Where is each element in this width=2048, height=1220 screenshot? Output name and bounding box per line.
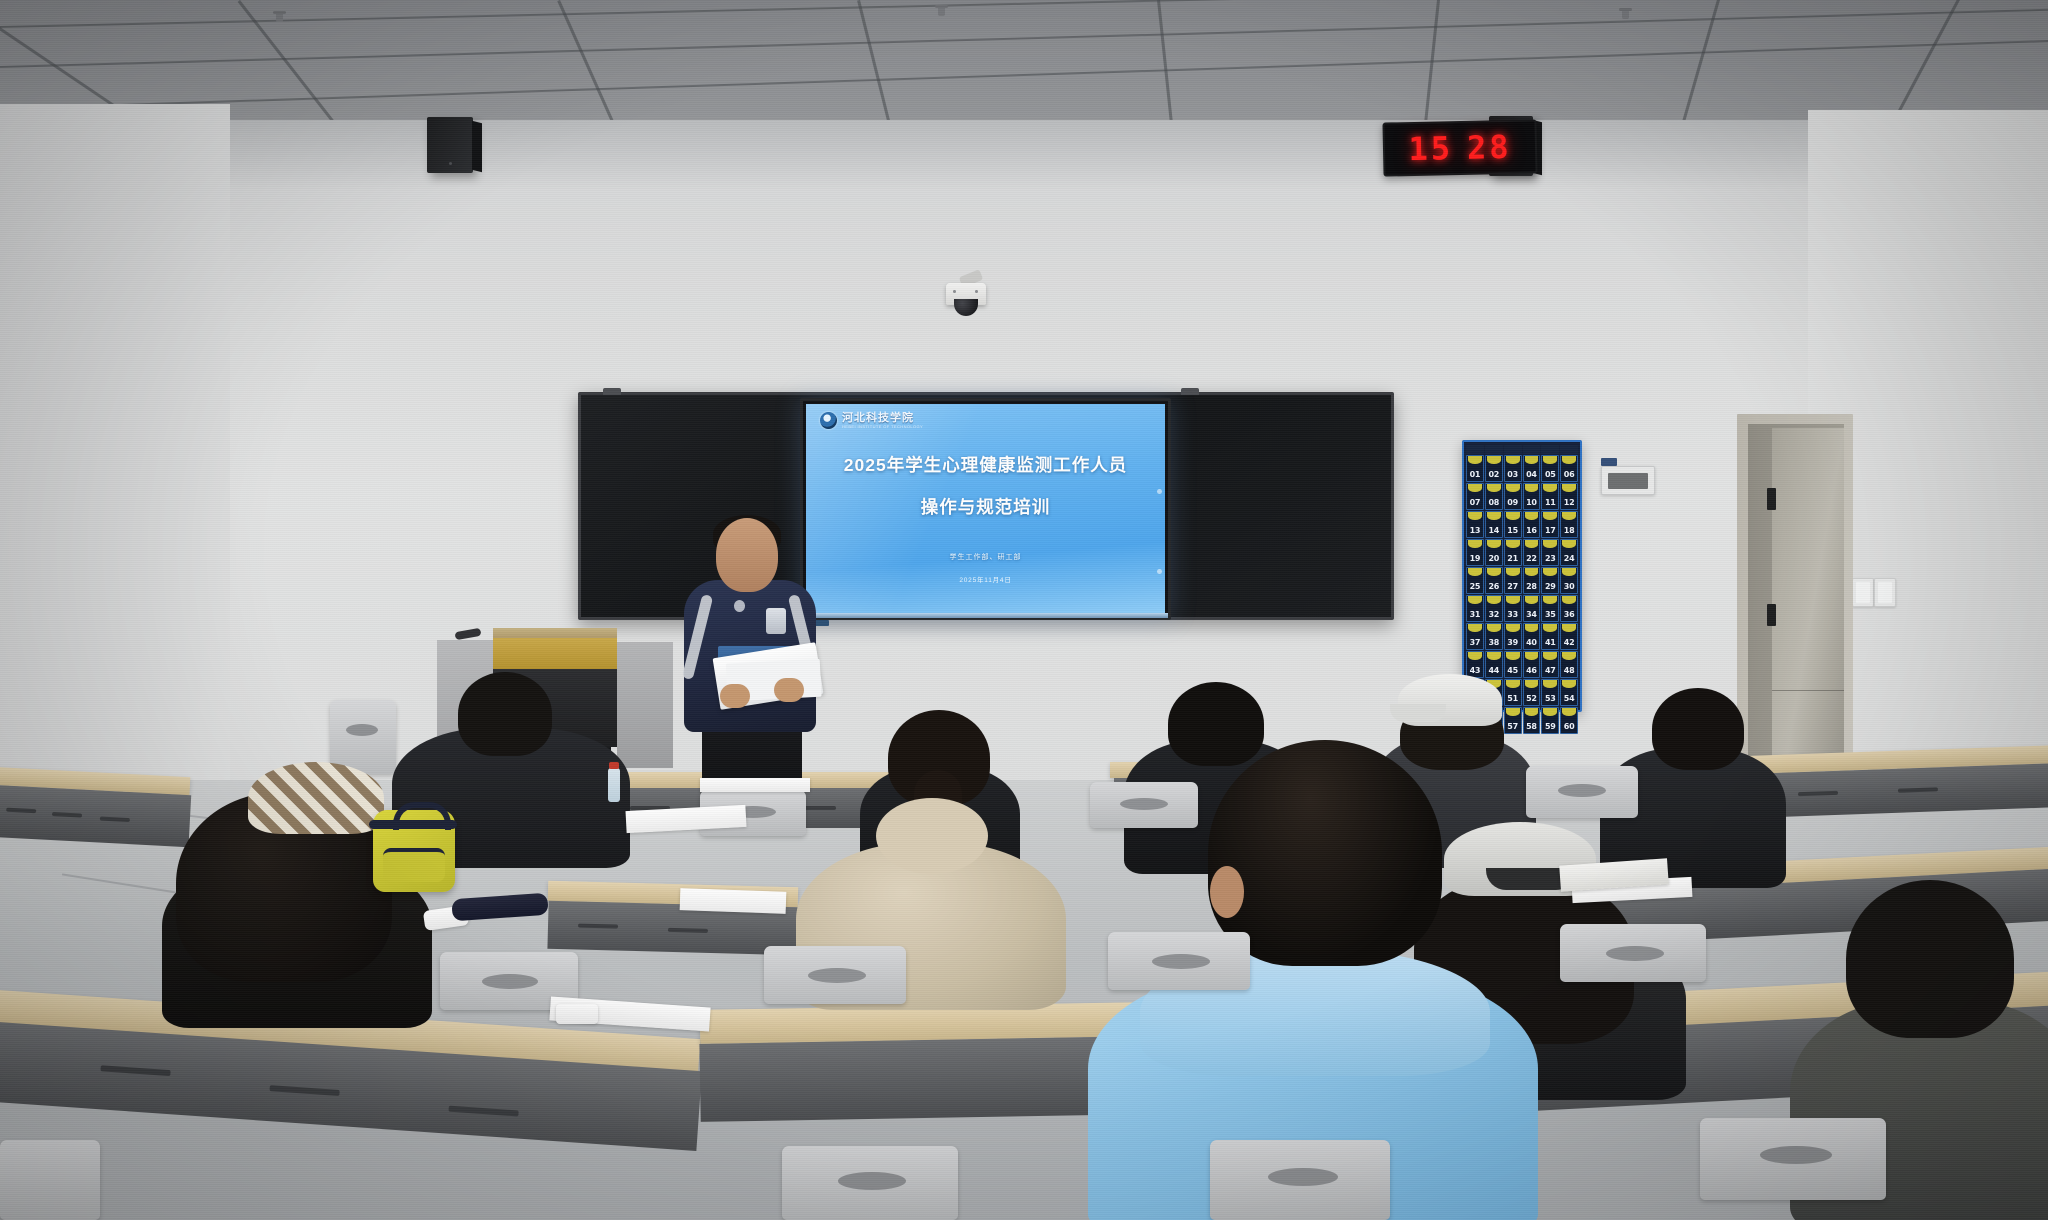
pocket-37[interactable]: 37 (1466, 623, 1484, 650)
yellow-backpack (373, 810, 455, 892)
pocket-flap (1562, 512, 1576, 520)
dome-camera (946, 283, 986, 313)
pocket-36[interactable]: 36 (1560, 595, 1578, 622)
pocket-number: 10 (1526, 498, 1537, 507)
pocket-flap (1525, 512, 1539, 520)
pocket-number: 16 (1526, 526, 1537, 535)
pocket-39[interactable]: 39 (1504, 623, 1522, 650)
pocket-20[interactable]: 20 (1485, 539, 1503, 566)
pocket-number: 31 (1470, 610, 1481, 619)
ceiling (0, 0, 2048, 128)
pocket-16[interactable]: 16 (1523, 511, 1541, 538)
light-switch[interactable] (1874, 578, 1896, 607)
digital-wall-clock: 15 28 (1382, 119, 1537, 176)
pocket-number: 13 (1470, 526, 1481, 535)
logo-emblem-icon (820, 412, 837, 429)
screen-indicator-icon (1157, 569, 1162, 574)
pocket-number: 17 (1545, 526, 1556, 535)
pocket-21[interactable]: 21 (1504, 539, 1522, 566)
pocket-45[interactable]: 45 (1504, 651, 1522, 678)
pocket-flap (1543, 484, 1557, 492)
pocket-number: 47 (1545, 666, 1556, 675)
wall-top-shading (0, 120, 2048, 190)
logo-name-en: HEBEI INSTITUTE OF TECHNOLOGY (842, 425, 923, 429)
pocket-number: 36 (1564, 610, 1575, 619)
pocket-06[interactable]: 06 (1560, 455, 1578, 482)
pocket-flap (1525, 624, 1539, 632)
pocket-42[interactable]: 42 (1560, 623, 1578, 650)
pocket-flap (1468, 596, 1482, 604)
pocket-43[interactable]: 43 (1466, 651, 1484, 678)
pocket-04[interactable]: 04 (1523, 455, 1541, 482)
pocket-number: 42 (1564, 638, 1575, 647)
ceiling-speaker-left (427, 117, 473, 173)
pocket-flap (1468, 624, 1482, 632)
pocket-number: 02 (1488, 470, 1499, 479)
pocket-number: 15 (1507, 526, 1518, 535)
pocket-flap (1506, 568, 1520, 576)
pocket-number: 01 (1470, 470, 1481, 479)
slide-title: 2025年学生心理健康监测工作人员 操作与规范培训 (806, 452, 1165, 519)
chair (1090, 782, 1198, 828)
pocket-flap (1525, 596, 1539, 604)
pocket-02[interactable]: 02 (1485, 455, 1503, 482)
pocket-number: 19 (1470, 554, 1481, 563)
pocket-07[interactable]: 07 (1466, 483, 1484, 510)
pocket-number: 14 (1488, 526, 1499, 535)
pocket-number: 35 (1545, 610, 1556, 619)
screen-indicator-icon (1157, 489, 1162, 494)
pocket-flap (1562, 680, 1576, 688)
pocket-01[interactable]: 01 (1466, 455, 1484, 482)
sprinkler-head (276, 11, 283, 22)
wall-control-plaque (1601, 466, 1655, 495)
pocket-chart-header (1466, 445, 1578, 454)
pocket-flap (1543, 680, 1557, 688)
pocket-flap (1506, 512, 1520, 520)
pocket-flap (1543, 596, 1557, 604)
presentation-slide: 河北科技学院 HEBEI INSTITUTE OF TECHNOLOGY 202… (806, 404, 1165, 614)
pocket-number: 23 (1545, 554, 1556, 563)
light-switch[interactable] (1852, 578, 1874, 607)
pocket-number: 18 (1564, 526, 1575, 535)
pocket-flap (1506, 456, 1520, 464)
pocket-27[interactable]: 27 (1504, 567, 1522, 594)
pocket-number: 43 (1470, 666, 1481, 675)
pocket-25[interactable]: 25 (1466, 567, 1484, 594)
presenter-standing (680, 518, 820, 798)
classroom-photo: 15 28 河北科技学院 HEBEI INSTITUTE OF TECHNOLO… (0, 0, 2048, 1220)
pocket-number: 30 (1564, 582, 1575, 591)
sprinkler-head (938, 5, 945, 16)
pocket-05[interactable]: 05 (1541, 455, 1559, 482)
pocket-53[interactable]: 53 (1541, 679, 1559, 706)
pocket-08[interactable]: 08 (1485, 483, 1503, 510)
pocket-flap (1506, 596, 1520, 604)
pocket-number: 33 (1507, 610, 1518, 619)
pocket-number: 22 (1526, 554, 1537, 563)
pocket-34[interactable]: 34 (1523, 595, 1541, 622)
pocket-number: 38 (1488, 638, 1499, 647)
pocket-14[interactable]: 14 (1485, 511, 1503, 538)
pocket-flap (1543, 624, 1557, 632)
pocket-flap (1487, 512, 1501, 520)
pocket-flap (1468, 540, 1482, 548)
pocket-flap (1562, 596, 1576, 604)
pocket-number: 29 (1545, 582, 1556, 591)
pocket-flap (1506, 484, 1520, 492)
pocket-flap (1525, 568, 1539, 576)
pocket-flap (1525, 652, 1539, 660)
pocket-flap (1562, 540, 1576, 548)
pocket-number: 11 (1545, 498, 1556, 507)
pocket-flap (1487, 456, 1501, 464)
ear (1210, 866, 1244, 918)
pocket-32[interactable]: 32 (1485, 595, 1503, 622)
pocket-flap (1562, 568, 1576, 576)
pocket-flap (1525, 540, 1539, 548)
left-wall (0, 104, 230, 824)
pocket-23[interactable]: 23 (1541, 539, 1559, 566)
pocket-number: 21 (1507, 554, 1518, 563)
paper-on-desk (700, 778, 810, 792)
pocket-31[interactable]: 31 (1466, 595, 1484, 622)
pocket-17[interactable]: 17 (1541, 511, 1559, 538)
pocket-number: 08 (1488, 498, 1499, 507)
pocket-40[interactable]: 40 (1523, 623, 1541, 650)
pocket-30[interactable]: 30 (1560, 567, 1578, 594)
pocket-number: 34 (1526, 610, 1537, 619)
sprinkler-head (1622, 8, 1629, 19)
pocket-number: 27 (1507, 582, 1518, 591)
slide-title-line2: 操作与规范培训 (806, 494, 1165, 519)
slide-date: 2025年11月4日 (806, 574, 1165, 584)
screen-bezel-bottom (803, 613, 1168, 618)
microphone-icon (455, 628, 482, 640)
pocket-flap (1506, 652, 1520, 660)
pocket-number: 59 (1545, 722, 1556, 731)
pocket-24[interactable]: 24 (1560, 539, 1578, 566)
pocket-flap (1506, 540, 1520, 548)
paper-on-desk (680, 888, 787, 914)
chair (0, 1140, 100, 1220)
pocket-09[interactable]: 09 (1504, 483, 1522, 510)
pocket-flap (1562, 484, 1576, 492)
pocket-number: 09 (1507, 498, 1518, 507)
pocket-flap (1506, 624, 1520, 632)
pocket-26[interactable]: 26 (1485, 567, 1503, 594)
pocket-number: 37 (1470, 638, 1481, 647)
pocket-28[interactable]: 28 (1523, 567, 1541, 594)
pocket-19[interactable]: 19 (1466, 539, 1484, 566)
pocket-number: 48 (1564, 666, 1575, 675)
chair (1526, 766, 1638, 818)
pocket-flap (1487, 568, 1501, 576)
pocket-03[interactable]: 03 (1504, 455, 1522, 482)
pocket-number: 28 (1526, 582, 1537, 591)
clock-hours: 15 (1408, 129, 1453, 168)
pocket-18[interactable]: 18 (1560, 511, 1578, 538)
pocket-number: 04 (1526, 470, 1537, 479)
clock-minutes: 28 (1467, 128, 1512, 167)
pocket-number: 05 (1545, 470, 1556, 479)
pocket-number: 41 (1545, 638, 1556, 647)
pocket-flap (1562, 624, 1576, 632)
pocket-flap (1562, 456, 1576, 464)
pocket-flap (1468, 456, 1482, 464)
pocket-41[interactable]: 41 (1541, 623, 1559, 650)
pocket-number: 03 (1507, 470, 1518, 479)
chair (1108, 932, 1250, 990)
pocket-number: 25 (1470, 582, 1481, 591)
display-screen[interactable]: 河北科技学院 HEBEI INSTITUTE OF TECHNOLOGY 202… (800, 398, 1171, 620)
pocket-35[interactable]: 35 (1541, 595, 1559, 622)
pocket-flap (1525, 456, 1539, 464)
pocket-flap (1468, 652, 1482, 660)
pocket-number: 20 (1488, 554, 1499, 563)
pocket-number: 45 (1507, 666, 1518, 675)
pocket-flap (1487, 624, 1501, 632)
pocket-29[interactable]: 29 (1541, 567, 1559, 594)
pocket-flap (1487, 596, 1501, 604)
pocket-number: 46 (1526, 666, 1537, 675)
logo-name-cn: 河北科技学院 (842, 413, 923, 424)
pocket-flap (1487, 484, 1501, 492)
pocket-46[interactable]: 46 (1523, 651, 1541, 678)
pocket-10[interactable]: 10 (1523, 483, 1541, 510)
pocket-flap (1543, 512, 1557, 520)
pocket-number: 24 (1564, 554, 1575, 563)
pocket-flap (1487, 540, 1501, 548)
pocket-flap (1487, 652, 1501, 660)
institution-logo: 河北科技学院 HEBEI INSTITUTE OF TECHNOLOGY (820, 412, 923, 429)
pocket-54[interactable]: 54 (1560, 679, 1578, 706)
baseball-cap (1398, 674, 1502, 726)
pocket-13[interactable]: 13 (1466, 511, 1484, 538)
checkered-hat (248, 762, 384, 834)
chair (782, 1146, 958, 1220)
pocket-44[interactable]: 44 (1485, 651, 1503, 678)
pocket-flap (1562, 708, 1576, 716)
pocket-number: 07 (1470, 498, 1481, 507)
pocket-33[interactable]: 33 (1504, 595, 1522, 622)
chair (1700, 1118, 1886, 1200)
pocket-47[interactable]: 47 (1541, 651, 1559, 678)
plaque-tab (1601, 458, 1617, 466)
pocket-number: 54 (1564, 694, 1575, 703)
pocket-flap (1543, 540, 1557, 548)
chair (764, 946, 906, 1004)
pocket-60[interactable]: 60 (1560, 707, 1578, 734)
pocket-flap (1468, 484, 1482, 492)
pocket-number: 39 (1507, 638, 1518, 647)
pocket-number: 12 (1564, 498, 1575, 507)
pocket-12[interactable]: 12 (1560, 483, 1578, 510)
pocket-15[interactable]: 15 (1504, 511, 1522, 538)
pocket-flap (1543, 568, 1557, 576)
pocket-flap (1543, 708, 1557, 716)
water-bottle (608, 768, 620, 802)
pocket-number: 60 (1564, 722, 1575, 731)
slide-title-line1: 2025年学生心理健康监测工作人员 (844, 455, 1127, 475)
chair (1210, 1140, 1390, 1220)
pocket-number: 32 (1488, 610, 1499, 619)
chair (1560, 924, 1706, 982)
pocket-48[interactable]: 48 (1560, 651, 1578, 678)
pocket-flap (1543, 652, 1557, 660)
pocket-number: 53 (1545, 694, 1556, 703)
pocket-number: 44 (1488, 666, 1499, 675)
pocket-flap (1525, 484, 1539, 492)
pocket-number: 06 (1564, 470, 1575, 479)
pocket-number: 26 (1488, 582, 1499, 591)
pocket-flap (1468, 512, 1482, 520)
pocket-38[interactable]: 38 (1485, 623, 1503, 650)
slide-subtitle: 学生工作部、研工部 (806, 552, 1165, 562)
cup (556, 1004, 598, 1024)
pocket-59[interactable]: 59 (1541, 707, 1559, 734)
pocket-number: 40 (1526, 638, 1537, 647)
pocket-11[interactable]: 11 (1541, 483, 1559, 510)
phone-pocket-chart: 0102030405060708091011121314151617181920… (1462, 440, 1582, 712)
pocket-22[interactable]: 22 (1523, 539, 1541, 566)
pocket-flap (1562, 652, 1576, 660)
pocket-flap (1543, 456, 1557, 464)
pocket-flap (1468, 568, 1482, 576)
